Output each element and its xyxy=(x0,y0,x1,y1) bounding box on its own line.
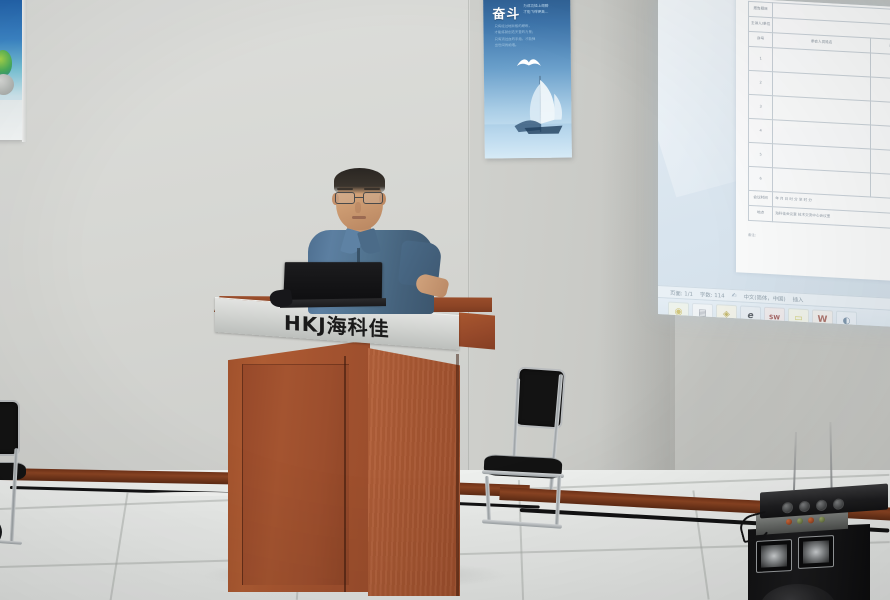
meeting-signin-table: 报告题目 主讲人/单位 序号 参会人员姓名 部门 1 xyxy=(748,1,890,230)
cell-index: 5 xyxy=(749,142,773,167)
presenter-eyebrow xyxy=(337,188,353,190)
cell-dept xyxy=(871,125,890,151)
cell-header-index: 序号 xyxy=(749,31,773,47)
side-poster xyxy=(0,0,22,140)
presenter-mouth xyxy=(352,216,366,219)
poster-ground xyxy=(0,100,22,140)
cell-label-place: 地点 xyxy=(749,205,773,221)
glasses-lens xyxy=(335,192,355,204)
cell-dept xyxy=(871,53,890,79)
cell-dept xyxy=(871,101,890,127)
cell-label: 主讲人/单位 xyxy=(749,16,773,32)
cell-label: 报告题目 xyxy=(749,1,773,17)
poster-body-text: 只有经过地狱般的磨练， 才能练就创造天堂的力量； 只有流过血的手指，才能弹 出世… xyxy=(494,23,535,49)
horn-tweeter xyxy=(798,535,834,569)
presenter-eyebrow xyxy=(364,188,380,190)
floor-grout-line xyxy=(109,493,128,600)
conference-room-photo: 奋斗 为成功插上翅膀 才能飞得更高… 只有经过地狱般的磨练， 才能练就创造天堂的… xyxy=(0,0,890,600)
status-page: 页面: 1/1 xyxy=(670,288,693,297)
cell-dept xyxy=(871,149,890,175)
cell-dept xyxy=(871,173,890,199)
podium-right-ledge xyxy=(459,312,495,349)
poster-subtitle: 为成功插上翅膀 才能飞得更高… xyxy=(523,4,548,16)
podium-side-panel xyxy=(368,348,460,596)
chair-center[interactable] xyxy=(492,366,602,536)
mixer-knob[interactable] xyxy=(808,517,814,523)
presenter-nose xyxy=(355,202,361,213)
podium-lectern: HKJ海科佳 xyxy=(210,296,500,600)
amp-knob[interactable] xyxy=(833,498,844,510)
mixer-knob[interactable] xyxy=(819,516,825,522)
podium-side-edge xyxy=(456,354,459,596)
chair-leg xyxy=(555,476,562,528)
word-document-page: 报告题目 主讲人/单位 序号 参会人员姓名 部门 1 xyxy=(736,0,890,283)
mixer-knob[interactable] xyxy=(797,518,803,524)
podium-front-inset xyxy=(242,364,349,585)
cell-index: 6 xyxy=(749,166,773,191)
document-footnote: 备注： xyxy=(748,232,758,238)
amp-knob[interactable] xyxy=(799,500,810,512)
cell-index: 4 xyxy=(749,118,773,143)
status-word-count: 字数: 114 xyxy=(700,290,725,299)
amp-knob[interactable] xyxy=(816,499,827,511)
chair-left[interactable] xyxy=(0,400,58,550)
cell-index: 2 xyxy=(749,70,773,95)
glasses-lens xyxy=(363,192,383,204)
cell-label-time: 会议时间 xyxy=(749,190,773,206)
status-insert-mode: 插入 xyxy=(793,295,804,304)
mixer-knob[interactable] xyxy=(786,519,792,525)
cell-index: 3 xyxy=(749,94,773,119)
projection-screen: 报告题目 主讲人/单位 序号 参会人员姓名 部门 1 xyxy=(658,0,890,328)
status-language: 中文(简体，中国) xyxy=(744,292,786,302)
cell-dept xyxy=(871,77,890,103)
seagull-icon xyxy=(516,56,542,70)
laptop[interactable] xyxy=(278,262,388,308)
poster-title: 奋斗 xyxy=(492,3,520,22)
poster-green-figure xyxy=(0,50,12,76)
podium-seam xyxy=(344,356,346,592)
poster-gray-sphere xyxy=(0,74,14,95)
pa-speaker-stack xyxy=(742,466,888,600)
amp-knob[interactable] xyxy=(782,501,793,513)
horn-tweeter xyxy=(756,539,792,573)
sailing-ship-icon xyxy=(510,74,569,143)
wood-grain xyxy=(368,348,460,596)
laptop-hinge xyxy=(280,298,386,308)
motivational-poster-fendou: 奋斗 为成功插上翅膀 才能飞得更高… 只有经过地狱般的磨练， 才能练就创造天堂的… xyxy=(483,0,572,158)
glasses-bridge xyxy=(355,197,363,198)
cell-index: 1 xyxy=(749,46,773,71)
poster-edge xyxy=(22,0,27,142)
spellcheck-icon: ✍ xyxy=(732,292,737,299)
presenter-hair xyxy=(334,168,385,194)
